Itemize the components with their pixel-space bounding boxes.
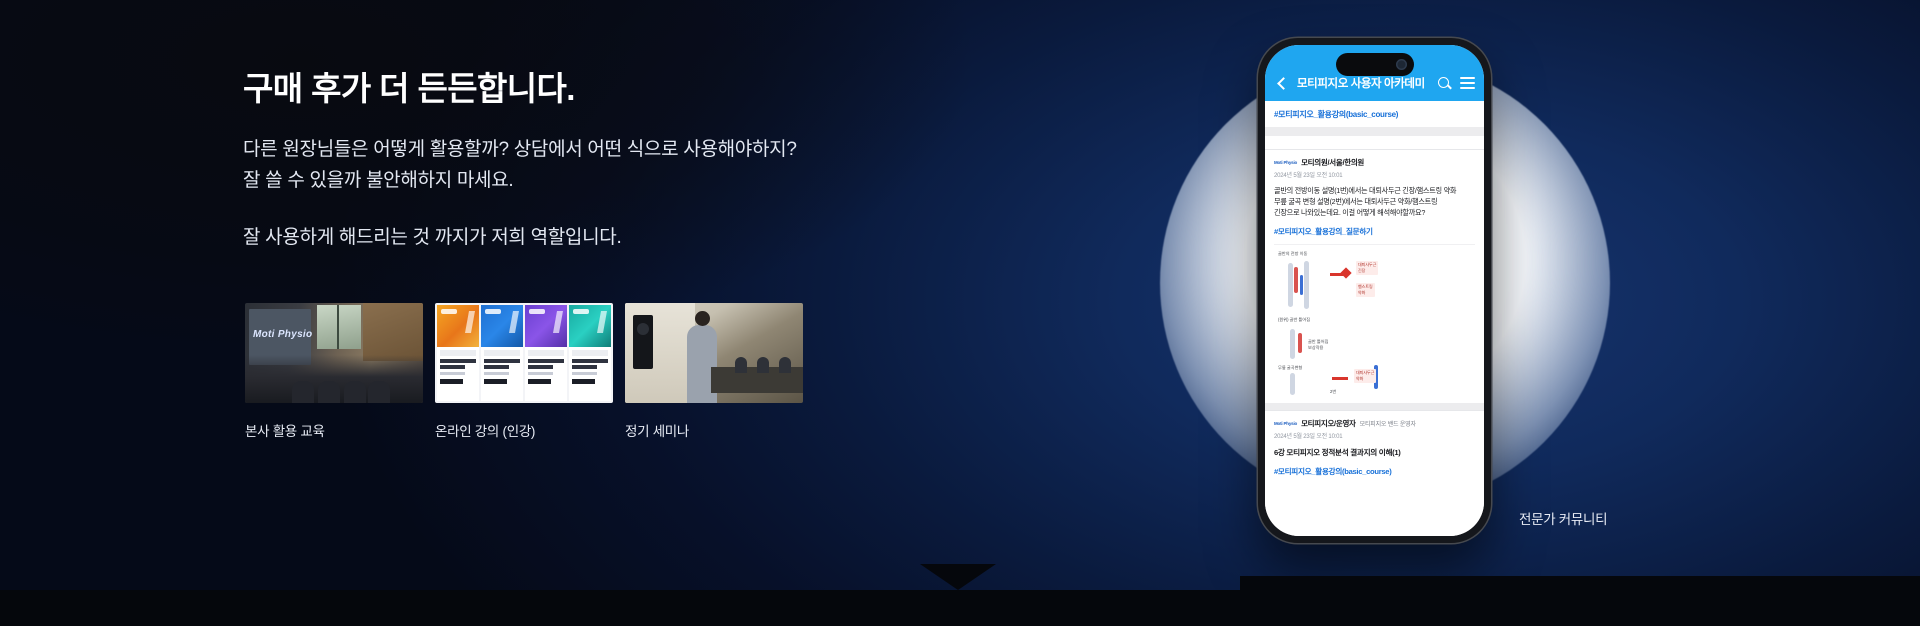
feed-post-1: Moti Physio 모티피지오/운영자 모티피지오 밴드 운영자 2024년… [1265, 411, 1484, 477]
section-divider [1265, 403, 1484, 410]
thumbnail-item-2[interactable]: 정기 세미나 [625, 303, 803, 440]
figure-caption-0: 골반의 전방 이동 [1278, 251, 1307, 257]
phone-caption: 전문가 커뮤니티 [1519, 508, 1607, 528]
post-hashtag-link[interactable]: #모티피지오_활용강의_질문하기 [1274, 226, 1475, 237]
thumbnail-image-seminar[interactable] [625, 303, 803, 403]
moti-physio-logo: Moti Physio [1274, 421, 1297, 426]
thumbnail-image-headquarters-training[interactable]: Moti Physio [245, 303, 423, 403]
post-author[interactable]: 모티피지오/운영자 [1301, 418, 1356, 429]
thumbnail-item-0[interactable]: Moti Physio 본사 활용 교육 [245, 303, 423, 440]
thumbnail-image-online-lecture[interactable] [435, 303, 613, 403]
bottom-block [1240, 576, 1920, 590]
speaker-box-shape [633, 315, 653, 369]
moti-physio-logo: Moti Physio [1274, 160, 1297, 165]
thumbnail-caption-0: 본사 활용 교육 [245, 420, 423, 440]
post-hashtag-link[interactable]: #모티피지오_활용강의(basic_course) [1274, 466, 1475, 477]
phone-mockup: 모티피지오 사용자 아카데미 #모티피지오_활용강의(basic_course)… [1258, 38, 1491, 543]
hero-section: 구매 후가 더 든든합니다. 다른 원장님들은 어떻게 활용할까? 상담에서 어… [0, 0, 1920, 626]
bottom-bar [0, 590, 1920, 626]
thumbnail-caption-2: 정기 세미나 [625, 420, 803, 440]
post-header: Moti Physio 모티피지오/운영자 모티피지오 밴드 운영자 [1274, 418, 1475, 429]
hamburger-menu-icon[interactable] [1460, 76, 1475, 91]
hero-paragraph-2: 잘 사용하게 해드리는 것 까지가 저희 역할입니다. [243, 223, 797, 254]
figure-caption-1: (원위) 골반 틀어짐 [1278, 317, 1310, 323]
search-icon[interactable] [1437, 76, 1452, 91]
post-title[interactable]: 6강 모티피지오 정적분석 결과지의 이해(1) [1274, 447, 1475, 458]
pinned-tag[interactable]: #모티피지오_활용강의(basic_course) [1265, 101, 1484, 127]
post-timestamp: 2024년 5월 23일 오전 10:01 [1274, 170, 1475, 179]
app-title: 모티피지오 사용자 아카데미 [1297, 75, 1429, 91]
post-figure-anatomy[interactable]: 골반의 전방 이동 대퇴사두근긴장 햄스트링약화 (원위) 골반 틀어짐 골반 … [1274, 244, 1475, 397]
section-divider [1265, 127, 1484, 136]
scroll-down-arrow[interactable] [920, 564, 996, 590]
post-author-subtitle: 모티피지오 밴드 운영자 [1360, 419, 1416, 428]
feed-post-0: Moti Physio 모티의원/서울/한의원 2024년 5월 23일 오전 … [1265, 150, 1484, 397]
wall-shape [363, 303, 423, 361]
feed-content[interactable]: #모티피지오_활용강의(basic_course) Moti Physio 모티… [1265, 101, 1484, 536]
window-shape [317, 305, 361, 349]
lecture-card [437, 305, 479, 401]
page-title: 구매 후가 더 든든합니다. [243, 68, 797, 109]
post-header: Moti Physio 모티의원/서울/한의원 [1274, 157, 1475, 168]
moti-physio-logo: Moti Physio [253, 329, 312, 340]
thumbnail-caption-1: 온라인 강의 (인강) [435, 420, 613, 440]
hero-paragraph-1: 다른 원장님들은 어떻게 활용할까? 상담에서 어떤 식으로 사용해야하지? 잘… [243, 135, 797, 197]
dynamic-island [1336, 53, 1414, 76]
hero-copy: 구매 후가 더 든든합니다. 다른 원장님들은 어떻게 활용할까? 상담에서 어… [243, 68, 797, 254]
thumbnail-gallery: Moti Physio 본사 활용 교육 [245, 303, 803, 440]
post-timestamp: 2024년 5월 23일 오전 10:01 [1274, 431, 1475, 440]
lecture-card [525, 305, 567, 401]
post-author[interactable]: 모티의원/서울/한의원 [1301, 157, 1364, 168]
lecture-card [569, 305, 611, 401]
figure-caption-4: 2번 [1330, 389, 1336, 395]
post-body: 골반의 전방이동 설명(1번)에서는 대퇴사두근 긴장/햄스트링 약화 무릎 굴… [1274, 185, 1475, 218]
chevron-left-icon[interactable] [1274, 76, 1289, 91]
thumbnail-item-1[interactable]: 온라인 강의 (인강) [435, 303, 613, 440]
figure-caption-2: 무릎 굴곡변형 [1278, 365, 1302, 371]
phone-screen: 모티피지오 사용자 아카데미 #모티피지오_활용강의(basic_course)… [1265, 45, 1484, 536]
lecture-card [481, 305, 523, 401]
